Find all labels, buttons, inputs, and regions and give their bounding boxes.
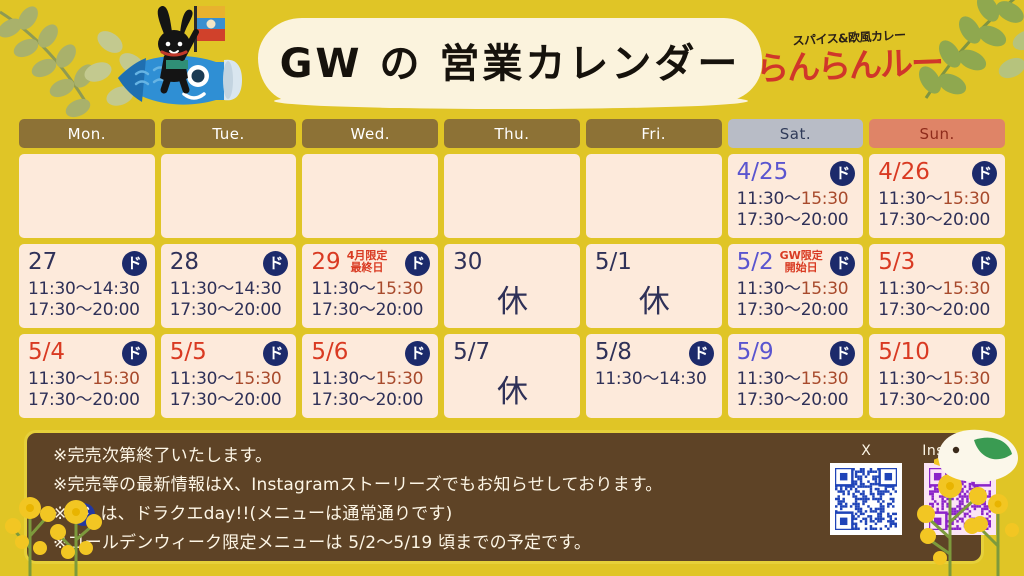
calendar-week-row: 5/4ド11:30〜15:3017:30〜20:005/5ド11:30〜15:3… — [19, 334, 1005, 418]
calendar-cell-day[interactable]: 30休 — [444, 244, 580, 328]
calendar-cell-day[interactable]: 28ド11:30〜14:3017:30〜20:00 — [161, 244, 297, 328]
poster-root: GW の 営業カレンダー スパイス&欧風カレー らんらんルー Mon.Tue.W… — [0, 0, 1024, 576]
dragon-quest-day-badge-icon: ド — [972, 341, 997, 366]
calendar-cell-day[interactable]: 5/3ド11:30〜15:3017:30〜20:00 — [869, 244, 1005, 328]
cell-hours: 11:30〜14:30 — [595, 369, 714, 390]
day-number: 5/1 — [595, 249, 632, 275]
cell-hours: 11:30〜14:30 — [28, 279, 147, 300]
calendar-cell-day[interactable]: 4/26ド11:30〜15:3017:30〜20:00 — [869, 154, 1005, 238]
day-number: 4/26 — [878, 159, 930, 185]
dragon-quest-day-badge-icon: ド — [72, 503, 95, 526]
cell-hours: 17:30〜20:00 — [737, 300, 856, 321]
qr-block-x[interactable]: X — [830, 443, 902, 539]
qr-code-x[interactable] — [830, 463, 902, 535]
cell-hours: 17:30〜20:00 — [737, 390, 856, 411]
cell-hours: 11:30〜15:30 — [28, 369, 147, 390]
cell-hours: 11:30〜14:30 — [170, 279, 289, 300]
cell-hours: 11:30〜15:30 — [737, 369, 856, 390]
brand-name: らんらんルー — [755, 46, 942, 85]
calendar-cell-empty — [586, 154, 722, 238]
day-number: 27 — [28, 249, 57, 275]
calendar-cell-day[interactable]: 5/6ド11:30〜15:3017:30〜20:00 — [302, 334, 438, 418]
cell-hours: 11:30〜15:30 — [311, 369, 430, 390]
day-note: 4月限定最終日 — [347, 250, 388, 274]
calendar-cell-day[interactable]: 5/5ド11:30〜15:3017:30〜20:00 — [161, 334, 297, 418]
dow-header-sat: Sat. — [728, 119, 864, 148]
day-number: 5/4 — [28, 339, 65, 365]
calendar-cell-day[interactable]: 27ド11:30〜14:3017:30〜20:00 — [19, 244, 155, 328]
cell-hours: 11:30〜15:30 — [737, 189, 856, 210]
dow-header-tue: Tue. — [161, 119, 297, 148]
calendar-cell-day[interactable]: 5/10ド11:30〜15:3017:30〜20:00 — [869, 334, 1005, 418]
cell-hours: 11:30〜15:30 — [311, 279, 430, 300]
calendar-cell-empty — [302, 154, 438, 238]
day-number: 5/10 — [878, 339, 930, 365]
cell-hours: 11:30〜15:30 — [878, 369, 997, 390]
cell-header: 5/1 — [595, 249, 714, 279]
dow-header-sun: Sun. — [869, 119, 1005, 148]
cell-hours: 11:30〜15:30 — [878, 189, 997, 210]
calendar-cell-day[interactable]: 5/2GW限定開始日ド11:30〜15:3017:30〜20:00 — [728, 244, 864, 328]
calendar-week-row: 4/25ド11:30〜15:3017:30〜20:004/26ド11:30〜15… — [19, 154, 1005, 238]
dragon-quest-day-badge-icon: ド — [122, 341, 147, 366]
qr-block-ig[interactable]: Instagram — [922, 443, 998, 539]
calendar-week-row: 27ド11:30〜14:3017:30〜20:0028ド11:30〜14:301… — [19, 244, 1005, 328]
title-banner: GW の 営業カレンダー — [258, 18, 762, 102]
day-number: 5/6 — [311, 339, 348, 365]
calendar-cell-day[interactable]: 5/7休 — [444, 334, 580, 418]
calendar-cell-day[interactable]: 5/4ド11:30〜15:3017:30〜20:00 — [19, 334, 155, 418]
calendar-grid: Mon.Tue.Wed.Thu.Fri.Sat.Sun. 4/25ド11:30〜… — [19, 119, 1005, 424]
page-title: GW の 営業カレンダー — [280, 31, 741, 89]
calendar-cell-day[interactable]: 5/1休 — [586, 244, 722, 328]
day-number: 4/25 — [737, 159, 789, 185]
qr-label: Instagram — [922, 443, 998, 459]
qr-code-ig[interactable] — [924, 463, 996, 535]
cell-hours: 17:30〜20:00 — [878, 390, 997, 411]
rabbit-on-koinobori-icon — [112, 4, 244, 116]
dragon-quest-day-badge-icon: ド — [689, 341, 714, 366]
day-number: 5/8 — [595, 339, 632, 365]
cell-hours: 17:30〜20:00 — [311, 300, 430, 321]
dow-header-mon: Mon. — [19, 119, 155, 148]
dragon-quest-day-badge-icon: ド — [972, 161, 997, 186]
cell-hours: 17:30〜20:00 — [170, 300, 289, 321]
calendar-weeks: 4/25ド11:30〜15:3017:30〜20:004/26ド11:30〜15… — [19, 154, 1005, 418]
cell-hours: 11:30〜15:30 — [737, 279, 856, 300]
cell-hours: 11:30〜15:30 — [170, 369, 289, 390]
cell-hours: 17:30〜20:00 — [28, 300, 147, 321]
poster-header: GW の 営業カレンダー スパイス&欧風カレー らんらんルー — [0, 0, 1024, 118]
calendar-cell-empty — [161, 154, 297, 238]
brand-logo: スパイス&欧風カレー らんらんルー — [756, 32, 942, 82]
dragon-quest-day-badge-icon: ド — [122, 251, 147, 276]
cell-hours: 17:30〜20:00 — [28, 390, 147, 411]
cell-hours: 11:30〜15:30 — [878, 279, 997, 300]
day-of-week-header-row: Mon.Tue.Wed.Thu.Fri.Sat.Sun. — [19, 119, 1005, 148]
closed-label: 休 — [453, 369, 572, 415]
calendar-cell-day[interactable]: 294月限定最終日ド11:30〜15:3017:30〜20:00 — [302, 244, 438, 328]
dragon-quest-day-badge-icon: ド — [405, 251, 430, 276]
day-number: 5/3 — [878, 249, 915, 275]
cell-header: 30 — [453, 249, 572, 279]
dragon-quest-day-badge-icon: ド — [405, 341, 430, 366]
cell-header: 5/7 — [453, 339, 572, 369]
cell-hours: 17:30〜20:00 — [737, 210, 856, 231]
closed-label: 休 — [453, 279, 572, 325]
day-number: 5/9 — [737, 339, 774, 365]
day-number: 5/5 — [170, 339, 207, 365]
day-number: 5/7 — [453, 339, 490, 365]
dow-header-wed: Wed. — [302, 119, 438, 148]
cell-hours: 17:30〜20:00 — [170, 390, 289, 411]
day-number: 5/2 — [737, 249, 774, 275]
dragon-quest-day-badge-icon: ド — [972, 251, 997, 276]
dow-header-fri: Fri. — [586, 119, 722, 148]
day-number: 30 — [453, 249, 482, 275]
closed-label: 休 — [595, 279, 714, 325]
calendar-cell-day[interactable]: 5/8ド11:30〜14:30 — [586, 334, 722, 418]
day-number: 28 — [170, 249, 199, 275]
day-note: GW限定開始日 — [780, 250, 823, 274]
calendar-cell-day[interactable]: 4/25ド11:30〜15:3017:30〜20:00 — [728, 154, 864, 238]
qr-label: X — [830, 443, 902, 459]
calendar-cell-day[interactable]: 5/9ド11:30〜15:3017:30〜20:00 — [728, 334, 864, 418]
qr-code-area: XInstagram — [830, 443, 998, 539]
calendar-cell-empty — [444, 154, 580, 238]
calendar-cell-empty — [19, 154, 155, 238]
cell-hours: 17:30〜20:00 — [311, 390, 430, 411]
cell-hours: 17:30〜20:00 — [878, 300, 997, 321]
cell-hours: 17:30〜20:00 — [878, 210, 997, 231]
day-number: 29 — [311, 249, 340, 275]
dow-header-thu: Thu. — [444, 119, 580, 148]
